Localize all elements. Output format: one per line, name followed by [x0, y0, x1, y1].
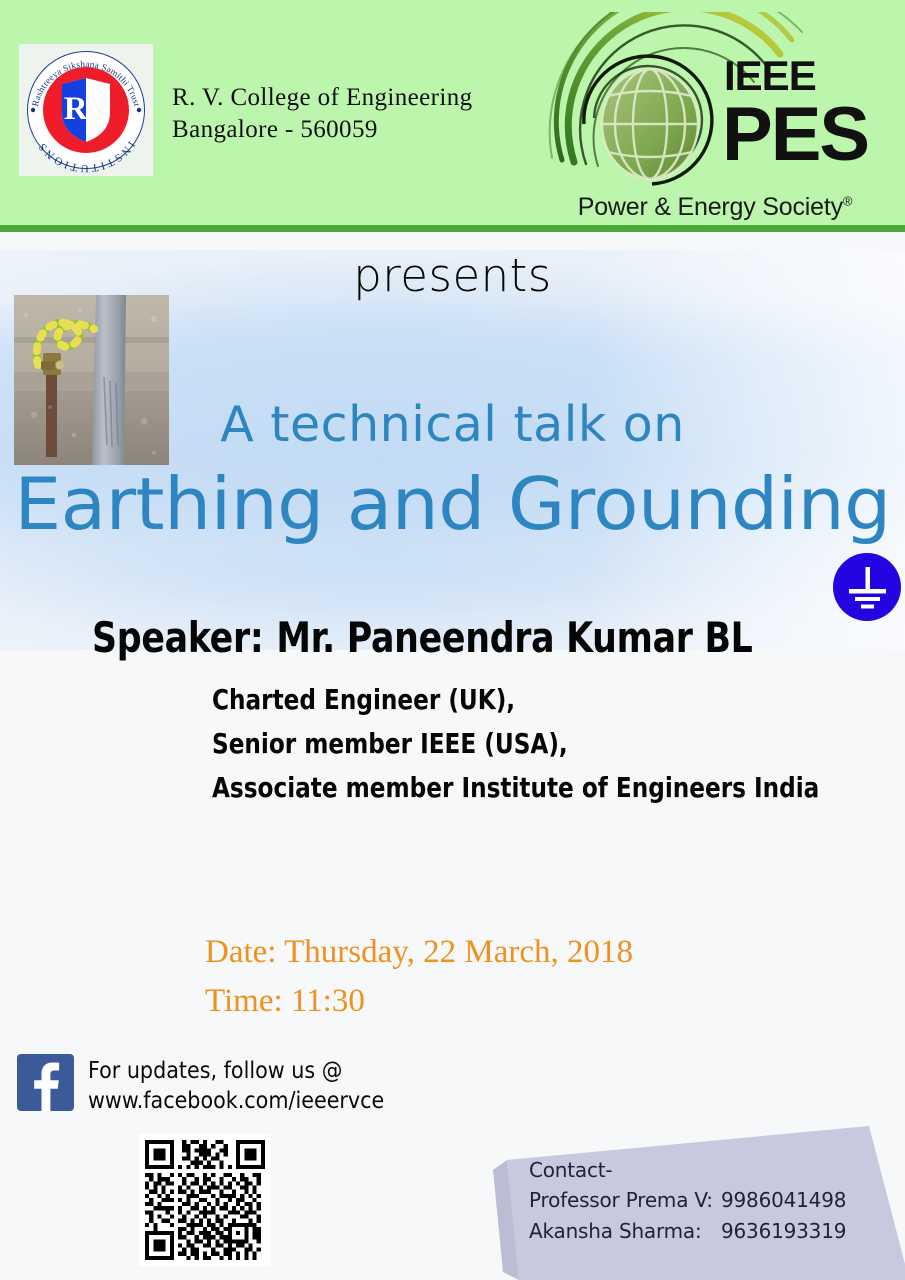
- registered-mark: ®: [843, 194, 852, 209]
- facebook-f-glyph: [17, 1054, 74, 1111]
- event-poster: RV Rashtreeya Sikshana Samithi Trust INS…: [0, 0, 905, 1280]
- speaker-name: Mr. Paneendra Kumar BL: [276, 613, 752, 662]
- speaker-credentials: Charted Engineer (UK), Senior member IEE…: [212, 678, 819, 811]
- college-name: R. V. College of Engineering: [172, 82, 473, 114]
- qr-code-icon[interactable]: [139, 1134, 271, 1266]
- pes-caption: Power & Energy Society®: [540, 193, 890, 222]
- poster-header: RV Rashtreeya Sikshana Samithi Trust INS…: [0, 0, 905, 232]
- rv-logo-monogram: RV: [43, 93, 129, 126]
- contact-row: Akansha Sharma: 9636193319: [529, 1216, 846, 1246]
- pes-caption-text: Power & Energy Society: [578, 193, 843, 221]
- contact-details: Contact- Professor Prema V: 9986041498 A…: [529, 1155, 846, 1246]
- contact-name: Professor Prema V:: [529, 1185, 721, 1215]
- ground-symbol-graphic: [833, 553, 901, 621]
- credential-item: Senior member IEEE (USA),: [212, 722, 819, 766]
- talk-title: Earthing and Grounding: [0, 462, 905, 546]
- event-date: Date: Thursday, 22 March, 2018: [205, 928, 633, 977]
- contact-phone: 9636193319: [721, 1216, 846, 1246]
- college-city: Bangalore - 560059: [172, 114, 473, 146]
- facebook-line1: For updates, follow us @: [88, 1057, 384, 1087]
- earth-ground-symbol-icon: [833, 553, 901, 621]
- rv-institutions-logo: RV Rashtreeya Sikshana Samithi Trust INS…: [19, 44, 153, 176]
- facebook-icon[interactable]: [17, 1054, 74, 1111]
- event-time: Time: 11:30: [205, 977, 633, 1026]
- contact-heading: Contact-: [529, 1155, 846, 1185]
- contact-name: Akansha Sharma:: [529, 1216, 721, 1246]
- talk-subtitle: A technical talk on: [0, 396, 905, 453]
- speaker-line: Speaker:Mr. Paneendra Kumar BL: [92, 613, 753, 662]
- college-name-block: R. V. College of Engineering Bangalore -…: [172, 82, 473, 146]
- qr-code-graphic: [145, 1140, 265, 1260]
- speaker-label: Speaker:: [92, 613, 263, 662]
- event-schedule: Date: Thursday, 22 March, 2018 Time: 11:…: [205, 928, 633, 1026]
- contact-row: Professor Prema V: 9986041498: [529, 1185, 846, 1215]
- ieee-pes-logo-graphic: IEEE PES: [540, 12, 890, 202]
- credential-item: Associate member Institute of Engineers …: [212, 766, 819, 810]
- contact-phone: 9986041498: [721, 1185, 846, 1215]
- facebook-follow-text: For updates, follow us @ www.facebook.co…: [88, 1057, 384, 1117]
- credential-item: Charted Engineer (UK),: [212, 678, 819, 722]
- svg-text:PES: PES: [722, 92, 868, 177]
- ieee-pes-logo: IEEE PES Power & Energy Society®: [540, 12, 890, 224]
- facebook-url[interactable]: www.facebook.com/ieeervce: [88, 1087, 384, 1117]
